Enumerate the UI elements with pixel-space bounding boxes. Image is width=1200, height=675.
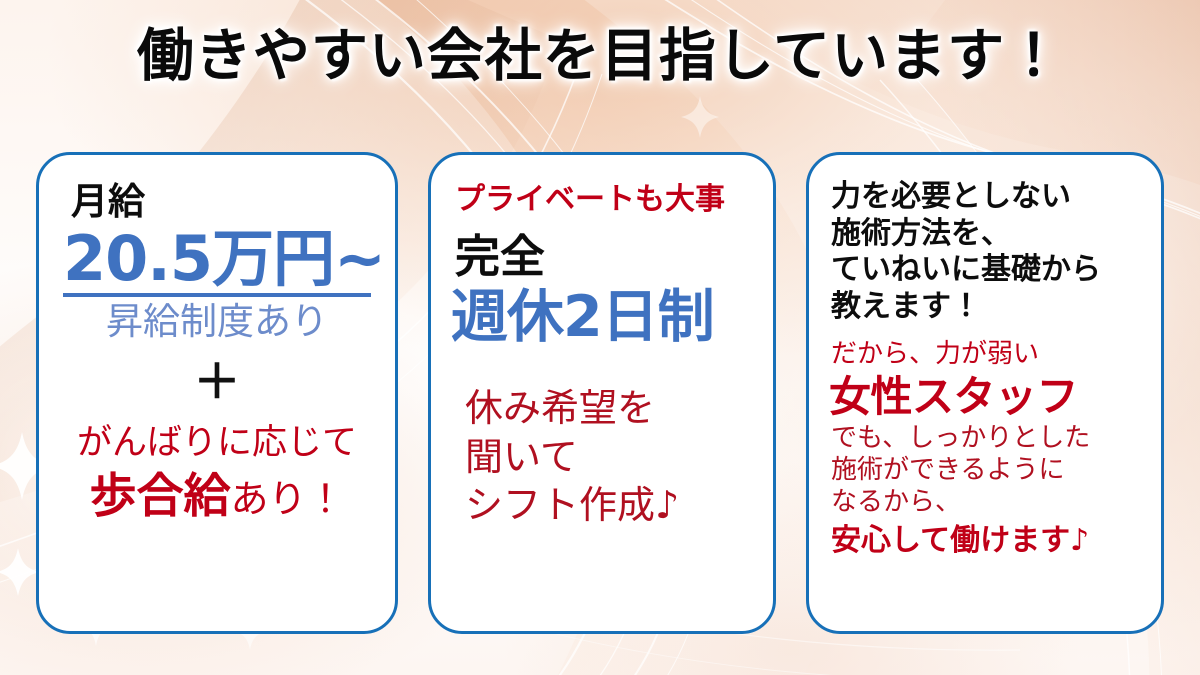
card-holiday[interactable]: プライベートも大事 完全 週休2日制 休み希望を 聞いて シフト作成♪	[428, 152, 776, 634]
holiday-note-line: シフト作成♪	[465, 481, 755, 530]
salary-label: 月給	[71, 183, 377, 222]
holiday-tagline: プライベートも大事	[455, 183, 755, 216]
training-body-line: 施術ができるように	[831, 454, 1143, 486]
training-lead-line: 施術方法を、	[831, 216, 1143, 253]
training-body: でも、しっかりとした 施術ができるように なるから、	[831, 422, 1143, 519]
holiday-full-label: 完全	[455, 232, 755, 282]
training-lead-line: 力を必要としない	[831, 179, 1143, 216]
effort-note: がんばりに応じて	[57, 422, 377, 464]
holiday-note: 休み希望を 聞いて シフト作成♪	[465, 384, 755, 530]
salary-amount: 20.5万円~	[63, 226, 371, 291]
raise-note: 昇給制度あり	[57, 301, 377, 344]
training-body-line: なるから、	[831, 486, 1143, 518]
commission-tail: あり！	[230, 477, 344, 521]
training-lead: 力を必要としない 施術方法を、 ていねいに基礎から 教えます！	[831, 179, 1143, 325]
plus-sign-icon: ＋	[57, 359, 377, 406]
training-because-line: だから、力が弱い	[831, 339, 1143, 370]
female-staff-label: 女性スタッフ	[829, 373, 1143, 420]
salary-amount-underline: 20.5万円~	[63, 226, 371, 297]
holiday-note-line: 休み希望を	[465, 384, 755, 433]
commission-line: 歩合給あり！	[57, 470, 377, 524]
holiday-note-line: 聞いて	[465, 433, 755, 482]
card-salary[interactable]: 月給 20.5万円~ 昇給制度あり ＋ がんばりに応じて 歩合給あり！	[36, 152, 398, 634]
commission-label: 歩合給	[89, 469, 230, 524]
training-lead-line: 教えます！	[831, 289, 1143, 326]
page-title: 働きやすい会社を目指しています！	[0, 24, 1200, 90]
benefit-card-group: 月給 20.5万円~ 昇給制度あり ＋ がんばりに応じて 歩合給あり！ プライベ…	[36, 152, 1164, 634]
training-closing-line: 安心して働けます♪	[831, 524, 1143, 559]
card-training[interactable]: 力を必要としない 施術方法を、 ていねいに基礎から 教えます！ だから、力が弱い…	[806, 152, 1164, 634]
training-body-line: でも、しっかりとした	[831, 422, 1143, 454]
slide-canvas: 働きやすい会社を目指しています！ 月給 20.5万円~ 昇給制度あり ＋ がんば…	[0, 0, 1200, 675]
training-lead-line: ていねいに基礎から	[831, 252, 1143, 289]
holiday-system-label: 週休2日制	[451, 286, 755, 349]
